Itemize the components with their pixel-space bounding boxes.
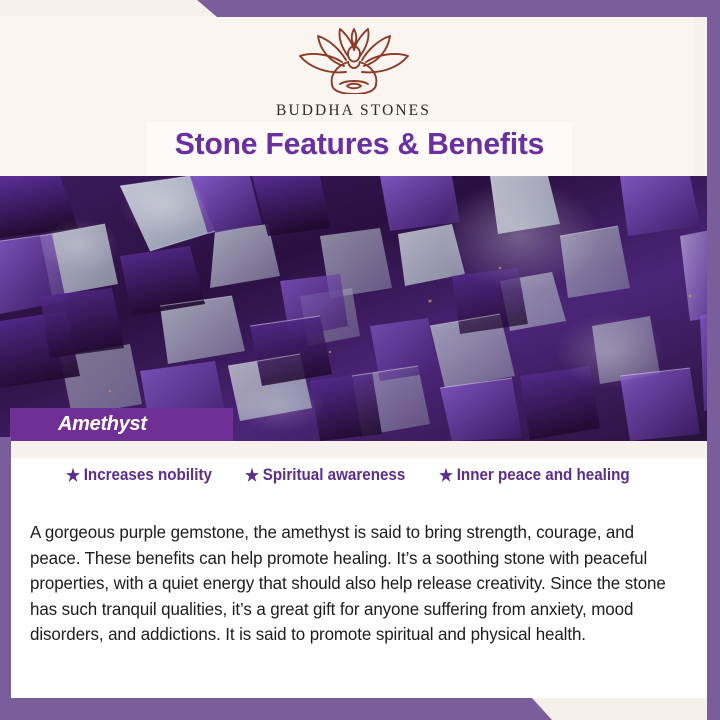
frame-right-accent — [707, 16, 720, 720]
stone-description: A gorgeous purple gemstone, the amethyst… — [30, 520, 674, 648]
infographic-page: BUDDHA STONES Stone Features & Benefits … — [0, 0, 720, 720]
stone-name-label: Amethyst — [58, 413, 147, 436]
brand-logo: BUDDHA STONES — [0, 26, 707, 120]
star-icon: ★ — [245, 467, 259, 484]
benefits-list: ★ Increases nobility ★ Spiritual awarene… — [11, 466, 701, 485]
benefit-item: ★ Increases nobility — [66, 466, 212, 485]
page-title: Stone Features & Benefits — [153, 126, 565, 162]
brand-name: BUDDHA STONES — [276, 102, 431, 120]
stone-name-badge: Amethyst — [10, 408, 233, 441]
star-icon: ★ — [66, 467, 80, 484]
benefit-label: Spiritual awareness — [262, 466, 405, 485]
frame-left-accent — [0, 437, 11, 699]
lotus-meditation-icon — [288, 26, 420, 94]
benefit-item: ★ Spiritual awareness — [245, 466, 405, 485]
benefit-item: ★ Inner peace and healing — [439, 466, 630, 485]
content-top-stripe — [11, 441, 707, 458]
benefit-label: Increases nobility — [84, 466, 212, 485]
amethyst-crystal-cluster-photo — [0, 176, 720, 441]
star-icon: ★ — [439, 467, 453, 484]
benefit-label: Inner peace and healing — [457, 466, 630, 485]
